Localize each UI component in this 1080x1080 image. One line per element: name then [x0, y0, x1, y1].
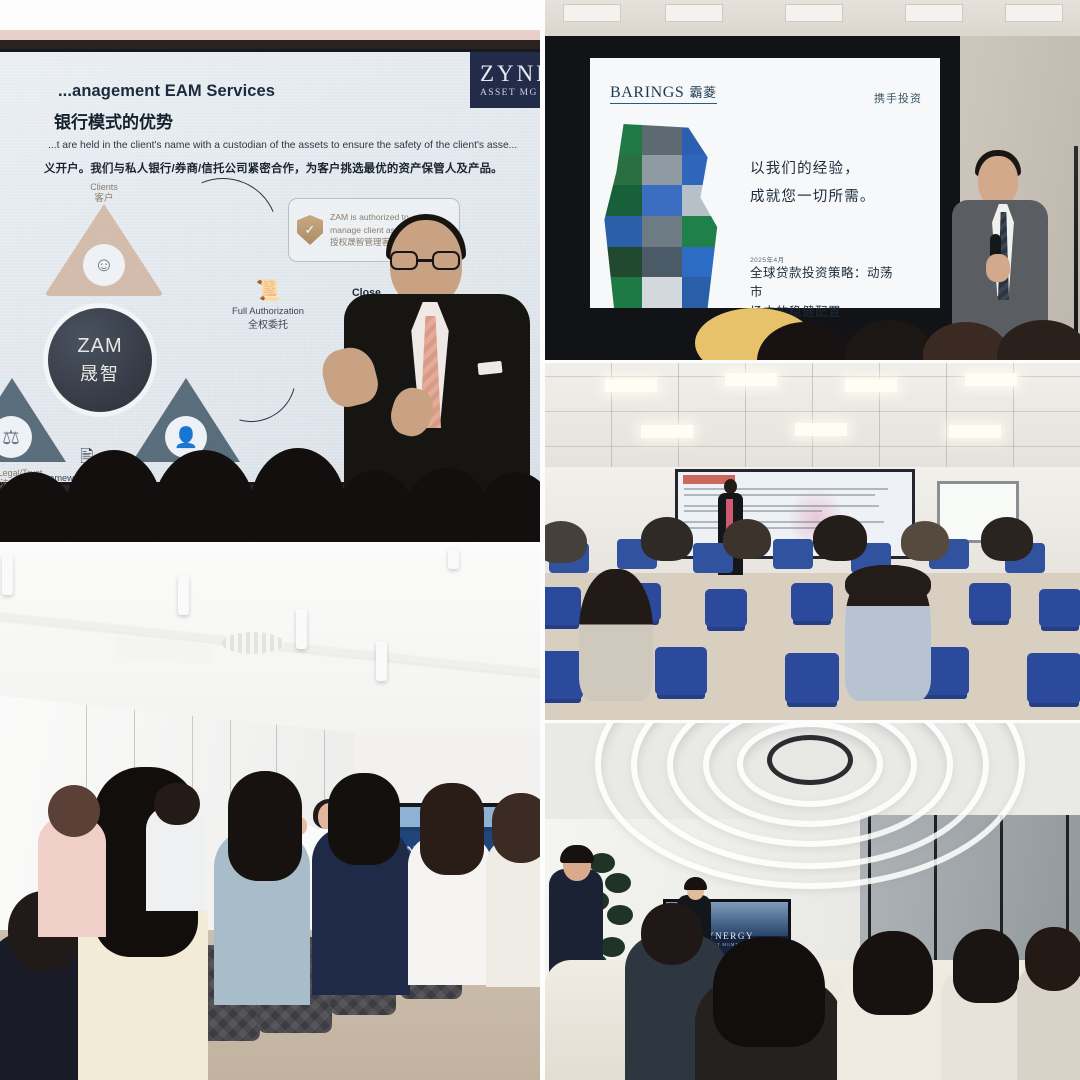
circular-air-vent — [222, 632, 284, 654]
speaker2-hand — [986, 254, 1010, 282]
panel-eam-presentation: ...anagement EAM Services 银行模式的优势 ...t a… — [0, 30, 540, 542]
track-light — [2, 555, 13, 595]
slide-date: 2025年4月 — [750, 254, 785, 264]
mic-stand — [1074, 146, 1078, 360]
slide-tagline: 携手投资 — [874, 90, 922, 106]
panel-lounge-room: ZYNERGY ASSET MGMT 晟智 — [545, 723, 1080, 1080]
photo-collage: ...anagement EAM Services 银行模式的优势 ...t a… — [0, 0, 1080, 1080]
panel-conference-room — [545, 363, 1080, 720]
zynergy-logo-main: ZYNE — [480, 62, 540, 85]
attendee-hair — [492, 793, 540, 863]
barings-slide: BARINGS霸菱 携手投资 以我们的经验， 成就您一切所需。 2025年4月 … — [590, 58, 940, 308]
attendee-hair — [1025, 927, 1080, 991]
person-icon: ☺ — [83, 244, 125, 286]
panel1-audience — [0, 372, 540, 542]
panel-white-seminar-room: ZYNERGY ASSET MGMT 晟智 — [0, 545, 540, 1080]
slide-body-en: ...t are held in the client's name with … — [48, 140, 517, 151]
track-light — [296, 609, 307, 649]
attendee-hair — [953, 929, 1019, 1003]
track-light — [178, 575, 189, 615]
attendee-hair — [328, 773, 400, 865]
zynergy-logo-sub: ASSET MG — [480, 88, 538, 98]
barings-quote: 以我们的经验， 成就您一切所需。 — [750, 156, 876, 211]
attendee-hair — [420, 783, 484, 875]
attendee-hair — [713, 937, 825, 1047]
mosaic-portrait-image — [602, 124, 722, 308]
ripple-ceiling — [595, 723, 1025, 889]
barings-logo: BARINGS霸菱 — [610, 82, 717, 104]
attendee-hair — [853, 931, 933, 1015]
attendee-hair — [48, 785, 100, 837]
track-light — [448, 549, 459, 569]
zynergy-logo: ZYNE ASSET MG — [470, 52, 540, 108]
audience-seating — [545, 543, 1080, 720]
slide-body-cn: 义开户。我们与私人银行/券商/信托公司紧密合作，为客户挑选最优的资产保管人及产品… — [44, 160, 503, 176]
track-light — [376, 641, 387, 681]
diagram-label-clients: Clients 客户 — [44, 182, 164, 205]
attendee-head — [641, 903, 703, 965]
speaker2-head — [978, 156, 1018, 206]
slide-title-en: ...anagement EAM Services — [58, 82, 275, 101]
slide-title-cn: 银行模式的优势 — [54, 108, 173, 133]
attendee-hair — [228, 771, 302, 881]
attendee-hair — [154, 783, 200, 825]
panel-barings-presentation: BARINGS霸菱 携手投资 以我们的经验， 成就您一切所需。 2025年4月 … — [545, 0, 1080, 360]
eyeglasses-icon — [390, 251, 462, 271]
presenter-head — [724, 479, 737, 494]
